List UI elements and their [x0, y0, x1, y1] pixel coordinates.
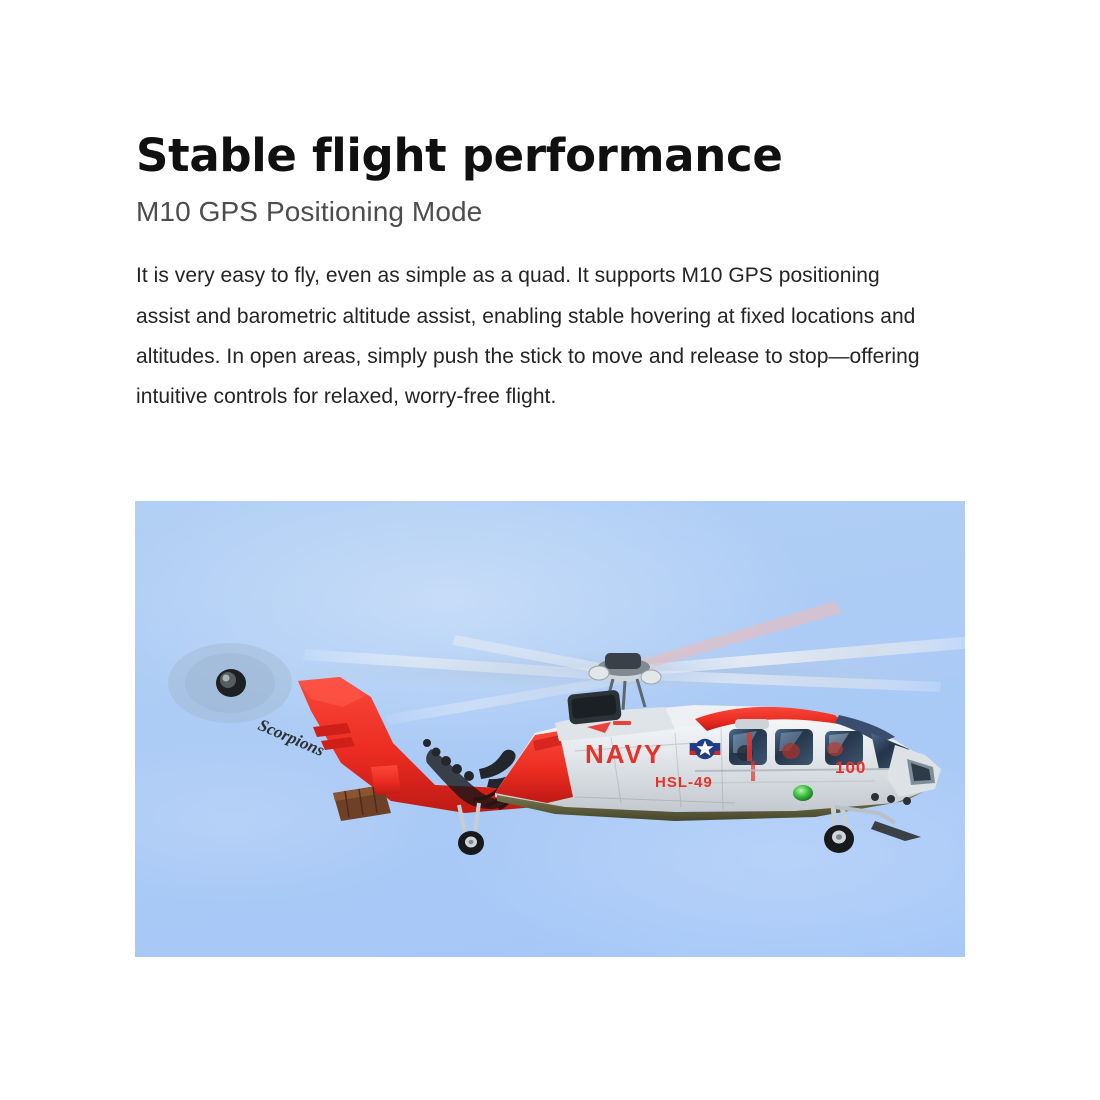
page-title: Stable flight performance [136, 132, 966, 181]
navigation-light-green [793, 785, 813, 801]
text-block: Stable flight performance M10 GPS Positi… [136, 132, 966, 417]
product-feature-page: Stable flight performance M10 GPS Positi… [0, 0, 1100, 1100]
squadron-code: HSL-49 [655, 774, 713, 791]
feature-photo: Scorpions [135, 501, 965, 957]
nose-section [887, 745, 941, 797]
nose-number: 100 [835, 758, 866, 777]
helicopter-illustration: Scorpions [135, 501, 965, 957]
body-paragraph: It is very easy to fly, even as simple a… [136, 256, 936, 417]
stabilizer-strut [371, 765, 401, 795]
page-subtitle: M10 GPS Positioning Mode [136, 195, 966, 229]
tail-rotor-hub [216, 669, 246, 697]
fuselage-navy-text: NAVY [585, 739, 663, 769]
tail-text: Scorpions [255, 715, 327, 760]
